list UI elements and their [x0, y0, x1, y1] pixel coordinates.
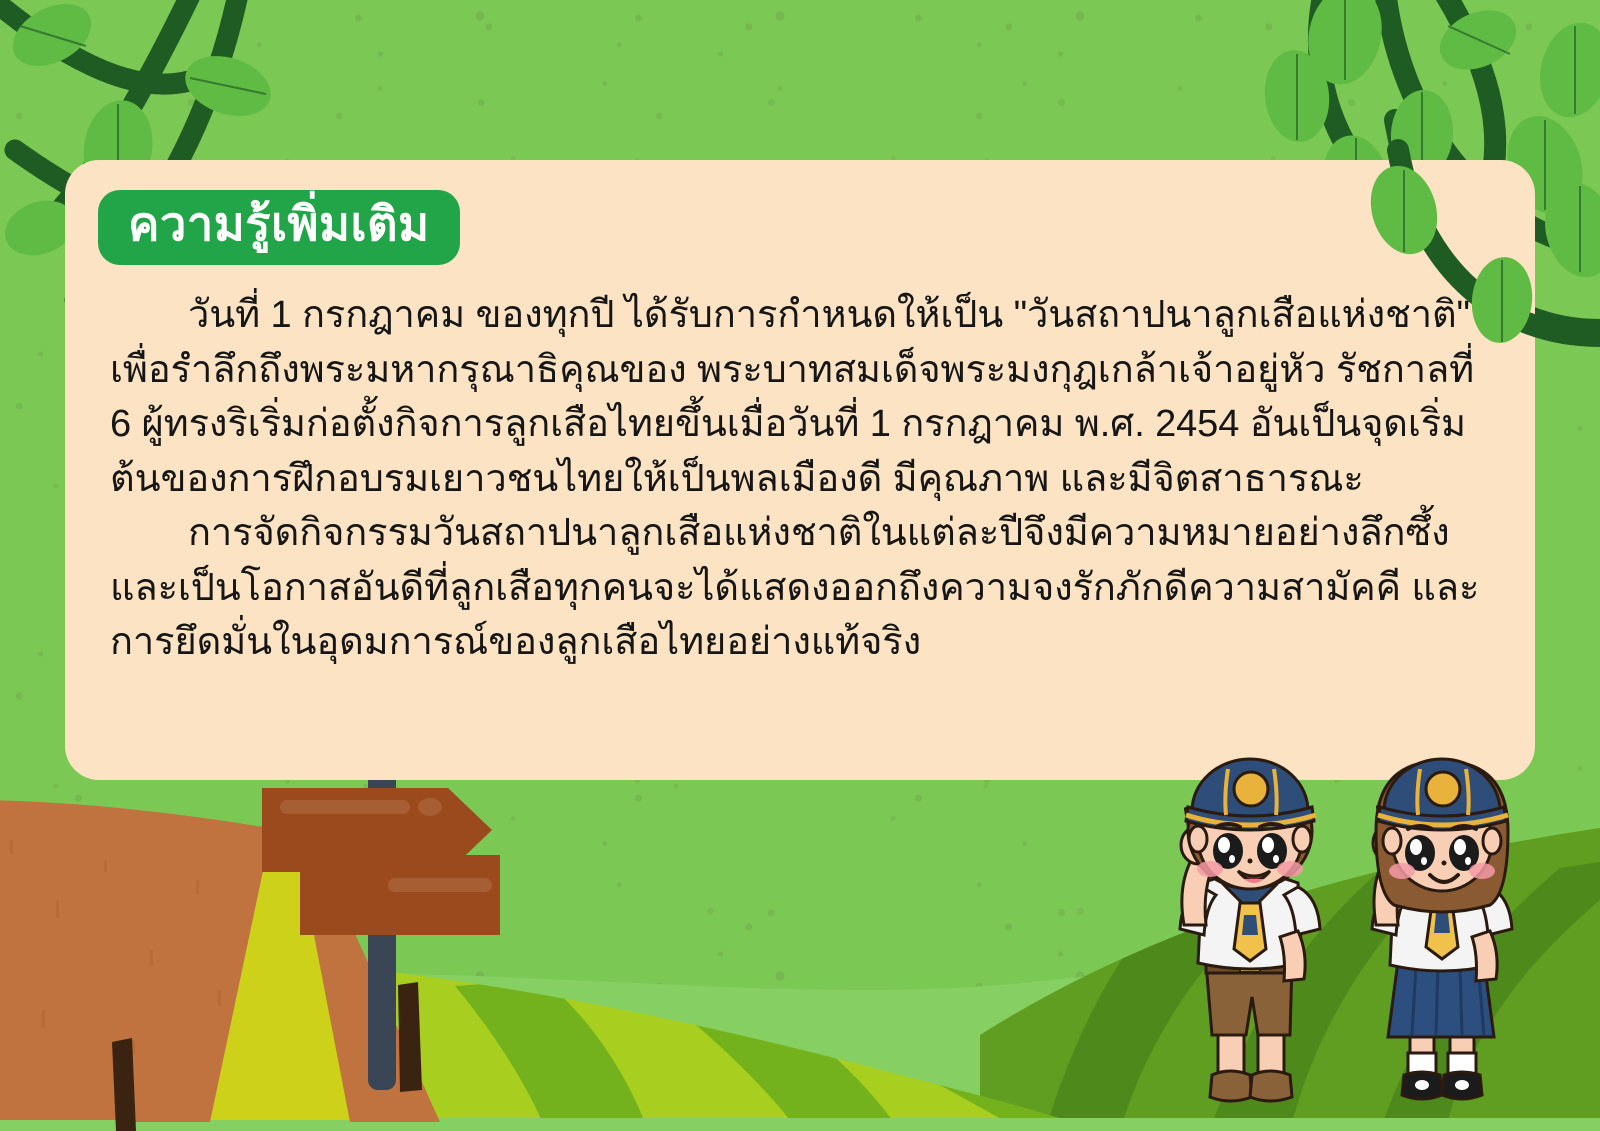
girl-ear-right [1483, 828, 1501, 854]
paragraph-2: การจัดกิจกรรมวันสถาปนาลูกเสือแห่งชาติในแ… [110, 506, 1480, 670]
section-badge: ความรู้เพิ่มเติม [98, 190, 460, 265]
boy-ear-left [1189, 826, 1207, 852]
boy-ear-right [1293, 826, 1311, 852]
boy-cap-badge [1234, 772, 1268, 806]
boy-shoe-left [1210, 1071, 1252, 1101]
scout-characters [1140, 735, 1570, 1131]
boy-blush-right [1277, 861, 1303, 877]
girl-blush-right [1469, 863, 1495, 879]
boy-blush-left [1197, 861, 1223, 877]
boy-scout [1180, 759, 1320, 1101]
leaf-icon [1535, 175, 1600, 285]
girl-cap-badge [1426, 772, 1460, 806]
girl-blush-left [1389, 863, 1415, 879]
infographic-canvas: ความรู้เพิ่มเติม วันที่ 1 กรกฎาคม ของทุก… [0, 0, 1600, 1131]
boy-arm-right [1280, 931, 1305, 981]
body-text-block: วันที่ 1 กรกฎาคม ของทุกปี ได้รับการกำหนด… [110, 288, 1480, 670]
girl-ear-left [1383, 828, 1401, 854]
girl-arm-right [1472, 931, 1497, 981]
boy-shoe-right [1250, 1071, 1292, 1101]
paragraph-1: วันที่ 1 กรกฎาคม ของทุกปี ได้รับการกำหนด… [110, 288, 1480, 506]
girl-scout [1372, 759, 1512, 1099]
